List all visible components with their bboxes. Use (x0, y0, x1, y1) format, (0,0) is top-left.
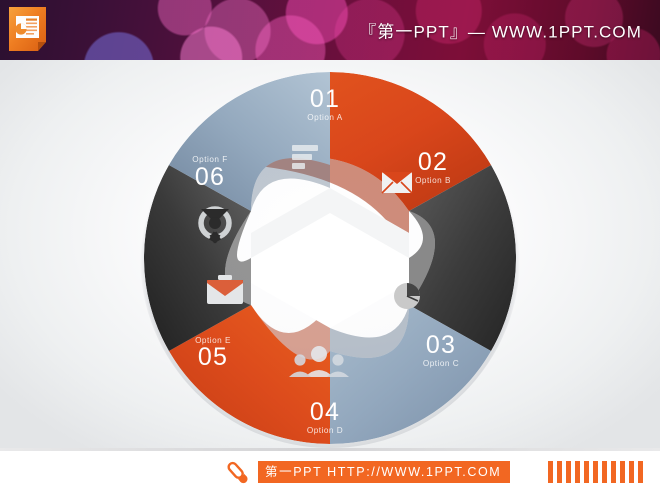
powerpoint-document-icon (5, 4, 50, 54)
segment-01-number: 01 (310, 85, 340, 113)
pen-icon (222, 457, 254, 489)
segment-06-number: 06 (195, 163, 225, 191)
stripe (638, 461, 643, 483)
stripe (548, 461, 553, 483)
stripe (584, 461, 589, 483)
stripe (566, 461, 571, 483)
segment-02-label[interactable]: 02 Option B (415, 148, 451, 185)
segment-03-caption: Option C (423, 359, 459, 368)
segment-02-number: 02 (418, 148, 448, 176)
footer-banner: 第一PPT HTTP://WWW.1PPT.COM (0, 448, 660, 495)
segment-04-caption: Option D (307, 426, 343, 435)
footer-stripes (548, 461, 643, 483)
segment-04-label[interactable]: 04 Option D (307, 398, 343, 435)
pie-chart-icon[interactable] (394, 283, 420, 309)
header-banner: 『第一PPT』— WWW.1PPT.COM (0, 0, 660, 60)
slide-body: 01 Option A 02 Option B 03 Option C 04 O… (0, 60, 660, 448)
stripe (557, 461, 562, 483)
slide-canvas: 『第一PPT』— WWW.1PPT.COM (0, 0, 660, 495)
segment-01-caption: Option A (307, 113, 342, 122)
segment-05-number: 05 (198, 343, 228, 371)
segment-01-label[interactable]: 01 Option A (307, 85, 342, 122)
stripe (575, 461, 580, 483)
segment-06-label[interactable]: Option F 06 (192, 155, 227, 191)
segment-02-caption: Option B (415, 176, 451, 185)
footer-url-label: 第一PPT HTTP://WWW.1PPT.COM (258, 461, 510, 483)
segment-03-number: 03 (426, 331, 456, 359)
stripe (602, 461, 607, 483)
segment-04-number: 04 (310, 398, 340, 426)
pinwheel-diagram: 01 Option A 02 Option B 03 Option C 04 O… (137, 65, 523, 451)
stripe (593, 461, 598, 483)
header-title: 『第一PPT』— WWW.1PPT.COM (359, 18, 642, 43)
segment-05-label[interactable]: Option E 05 (195, 336, 231, 371)
footer-divider (0, 448, 660, 451)
segment-03-label[interactable]: 03 Option C (423, 331, 459, 368)
stripe (611, 461, 616, 483)
envelope-icon[interactable] (382, 172, 412, 193)
stripe (620, 461, 625, 483)
stripe (629, 461, 634, 483)
